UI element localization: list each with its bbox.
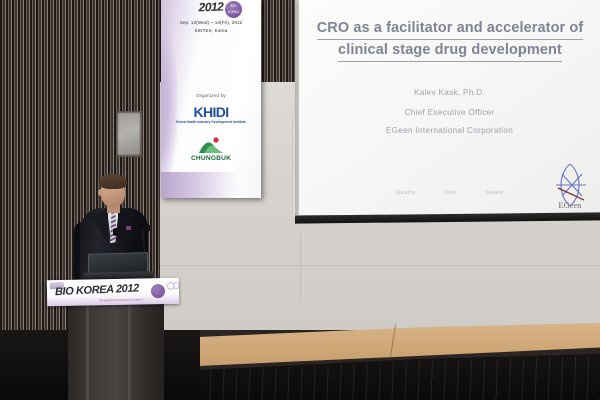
conference-photo-scene: CRO as a facilitator and accelerator of … [0,0,600,400]
podium-sign-text: BIO KOREA 2012 [55,282,139,298]
podium-edge-left [86,300,89,400]
slide-title: CRO as a facilitator and accelerator of … [311,18,589,62]
speaker-hair [99,174,127,189]
microphone-head-left [113,228,118,236]
slide-title-line1: CRO as a facilitator and accelerator of [317,18,584,40]
slide-presenter-company: EGeen International Corporation [299,126,600,135]
podium-sign-panel: BIO KOREA 2012 the global bio business m… [47,278,179,307]
chungbuk-wordmark: CHUNGBUK [161,155,261,162]
podium [68,300,164,400]
footer-speed: Speed [485,190,503,196]
podium-sign-tagline: the global bio business market [99,297,143,302]
speaker-ear [98,189,103,196]
slide-surface: CRO as a facilitator and accelerator of … [299,0,600,215]
slide-title-line2: clinical stage drug development [338,40,562,62]
banner-date-line: Sep. 12(Wed) ~ 14(Fri), 2012 [161,20,261,25]
egeen-wordmark: EGeen [548,200,592,210]
speaker-badge [126,226,131,230]
podium-sign-seal [151,284,165,298]
banner-seal-text: BIO KOREA [225,1,242,15]
banner-bottom-band [161,172,261,198]
wall-access-panel [116,111,142,157]
molecule-icon [165,280,179,294]
banner-venue-line: KINTEX, Korea [161,28,261,33]
khidi-logo-wordmark: KHIDI [161,104,261,120]
microphone-head-right [145,224,150,232]
banner-seal-badge: BIO KOREA [225,1,242,18]
banner-year-text: 2012 [161,0,261,16]
rollup-banner: 2012 BIO KOREA Sep. 12(Wed) ~ 14(Fri), 2… [161,0,261,198]
khidi-logo-subtitle: Korea Health Industry Development Instit… [161,120,261,124]
wall-seam-horizontal [160,265,600,266]
banner-organized-by-label: Organized by [161,93,261,98]
slide-presenter-role: Chief Executive Officer [299,108,600,117]
projection-screen: CRO as a facilitator and accelerator of … [299,0,600,222]
slide-presenter-name: Kalev Kask, Ph.D. [299,88,600,97]
chungbuk-logo-icon [197,136,225,154]
podium-edge-right [128,300,131,400]
footer-quality: Quality [396,190,416,196]
footer-cost: Cost [444,190,457,196]
